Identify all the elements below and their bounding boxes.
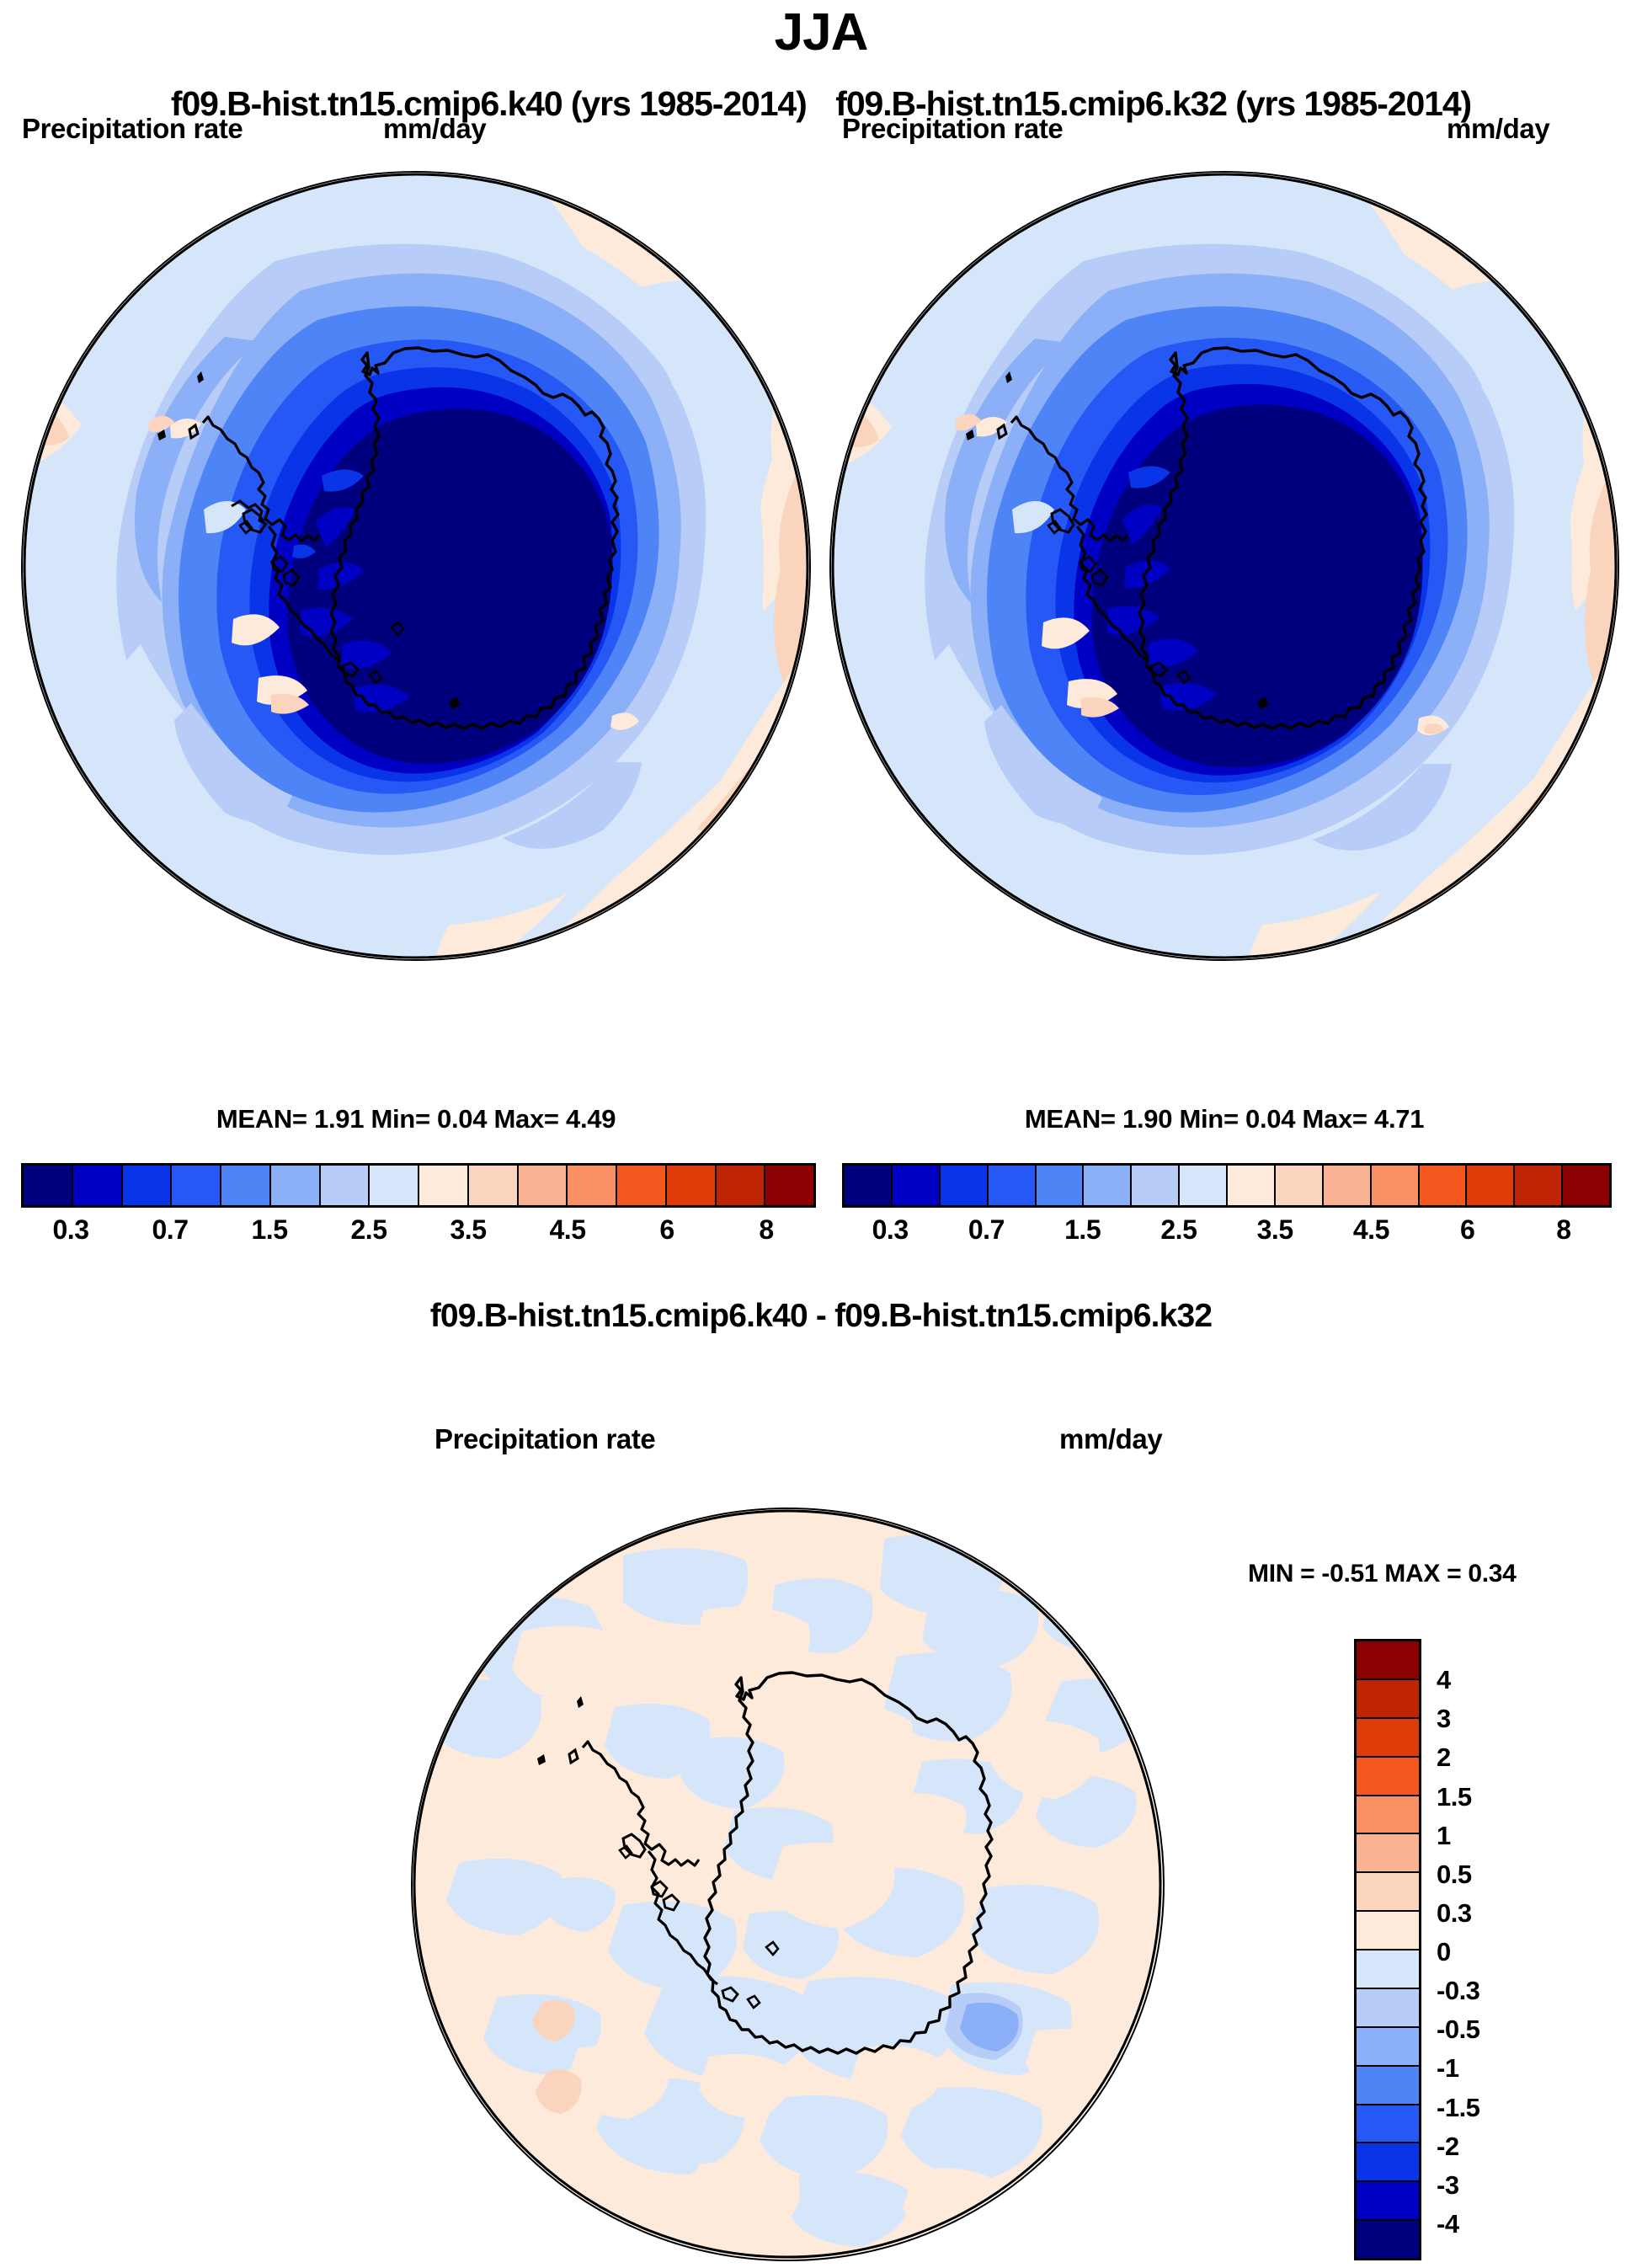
colorbar-tick-label: 0.3 [872,1214,909,1246]
colorbar-cell [1132,1166,1180,1205]
colorbar-cell [717,1166,766,1205]
colorbar-tick-label: -0.5 [1437,2015,1479,2045]
colorbar-cell [1357,2067,1419,2105]
map-globe-left[interactable] [21,171,811,961]
colorbar-cell [1084,1166,1132,1205]
panel-diff-variable-label: Precipitation rate [434,1423,655,1455]
colorbar-cell [1357,1912,1419,1950]
panel-diff-units-label: mm/day [1059,1423,1162,1455]
colorbar-cell [893,1166,941,1205]
colorbar-cell [221,1166,271,1205]
colorbar-cell [419,1166,469,1205]
colorbar-cell [568,1166,617,1205]
colorbar-cell [271,1166,321,1205]
panel-right-stats: MEAN= 1.90 Min= 0.04 Max= 4.71 [829,1104,1619,1134]
colorbar-tick-label: 0.3 [1437,1898,1472,1929]
colorbar-cell [172,1166,221,1205]
colorbar-cell [24,1166,73,1205]
colorbar-tick-label: 4 [1437,1665,1451,1695]
colorbar-cell [1357,2028,1419,2067]
colorbar-tick-label: 0.7 [968,1214,1005,1246]
colorbar-tick-label: 8 [759,1214,773,1246]
map-globe-difference[interactable] [411,1508,1165,2261]
colorbar-cell [1420,1166,1468,1205]
colorbar-cell [1357,1719,1419,1758]
colorbar-tick-label: 0.3 [53,1214,89,1246]
colorbar-tick-label: 2.5 [1160,1214,1197,1246]
colorbar-cell [123,1166,173,1205]
colorbar-tick-label: 3.5 [1257,1214,1293,1246]
colorbar-tick-label: 1.5 [1437,1782,1472,1812]
case-headers: f09.B-hist.tn15.cmip6.k40 (yrs 1985-2014… [0,84,1642,124]
colorbar-tick-label: 0.7 [152,1214,189,1246]
colorbar-cell [1357,1680,1419,1719]
colorbar-tick-label: 1.5 [252,1214,288,1246]
colorbar-cell [1180,1166,1228,1205]
colorbar-tick-label: -0.3 [1437,1976,1479,2006]
colorbar-tick-label: 1 [1437,1821,1451,1851]
case-header-left: f09.B-hist.tn15.cmip6.k40 (yrs 1985-2014… [171,84,807,123]
colorbar-cell [667,1166,717,1205]
colorbar-cell [1357,1641,1419,1680]
colorbar-cell [519,1166,568,1205]
colorbar-cell [1357,2182,1419,2221]
colorbar-cell [469,1166,519,1205]
colorbar-tick-label: 3.5 [450,1214,487,1246]
difference-minmax: MIN = -0.51 MAX = 0.34 [1248,1560,1517,1588]
colorbar-cell [845,1166,893,1205]
colorbar-cell [1357,2143,1419,2182]
colorbar-cell [989,1166,1037,1205]
colorbar-tick-label: 3 [1437,1704,1451,1734]
colorbar-cell [1276,1166,1324,1205]
colorbar-cell [1357,1873,1419,1912]
colorbar-cell [941,1166,989,1205]
colorbar-tick-label: 1.5 [1064,1214,1101,1246]
colorbar-cell [370,1166,419,1205]
colorbar-tick-label: -1.5 [1437,2093,1479,2123]
panel-right-variable-label: Precipitation rate [842,113,1063,145]
colorbar-cell [1324,1166,1372,1205]
colorbar-right[interactable] [842,1163,1612,1208]
colorbar-tick-label: -4 [1437,2209,1459,2239]
colorbar-cell [1372,1166,1420,1205]
page-title: JJA [0,7,1642,59]
map-contours-left [23,173,809,959]
difference-title: f09.B-hist.tn15.cmip6.k40 - f09.B-hist.t… [0,1298,1642,1335]
colorbar-cell [1357,1796,1419,1835]
colorbar-tick-label: 4.5 [550,1214,586,1246]
colorbar-cell [1515,1166,1563,1205]
colorbar-cell [1357,2221,1419,2258]
colorbar-tick-label: 6 [1460,1214,1474,1246]
colorbar-difference[interactable] [1354,1639,1421,2260]
colorbar-tick-label: 8 [1556,1214,1570,1246]
panel-left-stats: MEAN= 1.91 Min= 0.04 Max= 4.49 [21,1104,811,1134]
panel-left-units-label: mm/day [383,113,486,145]
colorbar-cell [1357,1950,1419,1989]
colorbar-left-ticklabels: 0.30.71.52.53.54.568 [21,1214,811,1255]
colorbar-cell [1357,1834,1419,1873]
colorbar-cell [1563,1166,1609,1205]
colorbar-cell [1357,1989,1419,2028]
colorbar-right-ticklabels: 0.30.71.52.53.54.568 [842,1214,1607,1255]
colorbar-cell [1467,1166,1515,1205]
colorbar-cell [1357,2105,1419,2144]
colorbar-cell [1357,1758,1419,1796]
colorbar-tick-label: 6 [659,1214,674,1246]
colorbar-tick-label: 0 [1437,1937,1451,1967]
colorbar-tick-label: -3 [1437,2170,1459,2201]
panel-right-units-label: mm/day [1447,113,1549,145]
colorbar-tick-label: -1 [1437,2053,1459,2084]
colorbar-cell [321,1166,371,1205]
colorbar-tick-label: 2.5 [351,1214,387,1246]
map-contours-right [831,173,1618,959]
colorbar-tick-label: 4.5 [1353,1214,1389,1246]
colorbar-tick-label: -2 [1437,2132,1459,2162]
colorbar-cell [1037,1166,1085,1205]
colorbar-cell [73,1166,123,1205]
colorbar-cell [765,1166,813,1205]
map-globe-right[interactable] [829,171,1619,961]
map-contours-difference [413,1509,1163,2260]
colorbar-left[interactable] [21,1163,816,1208]
panel-left-variable-label: Precipitation rate [22,113,243,145]
colorbar-cell [1228,1166,1276,1205]
colorbar-cell [617,1166,667,1205]
colorbar-tick-label: 2 [1437,1742,1451,1773]
colorbar-tick-label: 0.5 [1437,1860,1472,1890]
